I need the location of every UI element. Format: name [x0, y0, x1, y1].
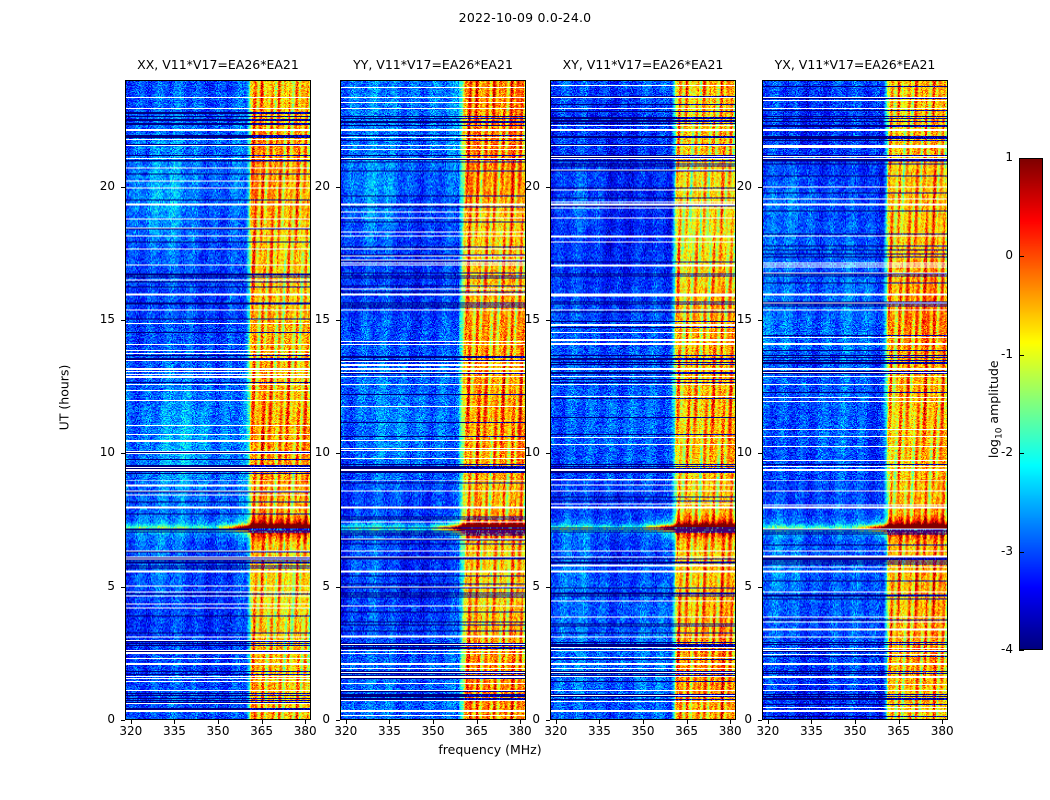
y-tick-mark — [546, 587, 550, 588]
y-tick-label: 10 — [300, 445, 330, 459]
y-tick-mark — [546, 187, 550, 188]
y-tick-label: 10 — [85, 445, 115, 459]
colorbar-tick-label: -4 — [979, 642, 1013, 656]
y-tick-mark — [336, 720, 340, 721]
y-tick-mark — [336, 587, 340, 588]
colorbar-tick-label: 1 — [979, 150, 1013, 164]
spectrogram-panel-xx[interactable] — [125, 80, 311, 720]
panel-title-yx: YX, V11*V17=EA26*EA21 — [722, 57, 988, 72]
x-tick-label: 380 — [710, 724, 750, 738]
y-tick-mark — [546, 320, 550, 321]
colorbar-label-base: 10 — [994, 428, 1004, 439]
y-tick-label: 5 — [510, 579, 540, 593]
figure-suptitle: 2022-10-09 0.0-24.0 — [0, 10, 1050, 25]
colorbar-tick-mark — [1019, 256, 1024, 257]
y-tick-label: 5 — [300, 579, 330, 593]
y-tick-mark — [336, 187, 340, 188]
y-tick-mark — [121, 720, 125, 721]
y-tick-label: 0 — [722, 712, 752, 726]
y-tick-mark — [121, 587, 125, 588]
colorbar-label-log: log — [986, 439, 1001, 458]
y-tick-mark — [758, 320, 762, 321]
y-tick-mark — [121, 320, 125, 321]
y-tick-label: 0 — [300, 712, 330, 726]
x-tick-label: 365 — [667, 724, 707, 738]
x-tick-label: 380 — [285, 724, 325, 738]
x-tick-label: 365 — [879, 724, 919, 738]
y-tick-mark — [758, 587, 762, 588]
spectrogram-panel-yy[interactable] — [340, 80, 526, 720]
y-tick-label: 15 — [300, 312, 330, 326]
x-tick-label: 350 — [413, 724, 453, 738]
x-tick-label: 350 — [835, 724, 875, 738]
y-tick-mark — [758, 720, 762, 721]
x-tick-label: 350 — [623, 724, 663, 738]
y-tick-mark — [121, 453, 125, 454]
y-tick-mark — [121, 187, 125, 188]
x-tick-label: 335 — [154, 724, 194, 738]
y-tick-mark — [546, 720, 550, 721]
y-tick-label: 15 — [722, 312, 752, 326]
y-tick-label: 5 — [722, 579, 752, 593]
y-axis-label: UT (hours) — [57, 328, 72, 468]
x-tick-label: 350 — [198, 724, 238, 738]
y-tick-label: 20 — [722, 179, 752, 193]
colorbar-tick-label: -3 — [979, 544, 1013, 558]
y-tick-label: 5 — [85, 579, 115, 593]
y-tick-mark — [758, 187, 762, 188]
y-tick-mark — [336, 453, 340, 454]
y-tick-label: 20 — [510, 179, 540, 193]
y-tick-label: 15 — [85, 312, 115, 326]
x-tick-label: 320 — [111, 724, 151, 738]
colorbar-tick-mark — [1019, 158, 1024, 159]
y-tick-label: 15 — [510, 312, 540, 326]
colorbar-label-tail: amplitude — [986, 360, 1001, 427]
colorbar-tick-mark — [1019, 650, 1024, 651]
colorbar[interactable] — [1019, 158, 1043, 650]
x-tick-label: 335 — [579, 724, 619, 738]
colorbar-tick-mark — [1019, 552, 1024, 553]
x-tick-label: 380 — [922, 724, 962, 738]
spectrogram-panel-yx[interactable] — [762, 80, 948, 720]
x-tick-label: 320 — [326, 724, 366, 738]
colorbar-tick-label: 0 — [979, 248, 1013, 262]
colorbar-tick-mark — [1019, 453, 1024, 454]
colorbar-label: log10 amplitude — [986, 319, 1005, 499]
x-axis-label: frequency (MHz) — [330, 742, 650, 757]
x-tick-label: 320 — [536, 724, 576, 738]
spectrogram-panel-xy[interactable] — [550, 80, 736, 720]
y-tick-label: 0 — [85, 712, 115, 726]
x-tick-label: 380 — [500, 724, 540, 738]
y-tick-label: 20 — [300, 179, 330, 193]
y-tick-mark — [336, 320, 340, 321]
x-tick-label: 320 — [748, 724, 788, 738]
y-tick-mark — [546, 453, 550, 454]
figure-canvas: 2022-10-09 0.0-24.0 XX, V11*V17=EA26*EA2… — [0, 0, 1050, 800]
x-tick-label: 335 — [791, 724, 831, 738]
colorbar-tick-mark — [1019, 355, 1024, 356]
x-tick-label: 335 — [369, 724, 409, 738]
y-tick-label: 10 — [510, 445, 540, 459]
y-tick-label: 0 — [510, 712, 540, 726]
y-tick-label: 20 — [85, 179, 115, 193]
y-tick-label: 10 — [722, 445, 752, 459]
x-tick-label: 365 — [242, 724, 282, 738]
y-tick-mark — [758, 453, 762, 454]
x-tick-label: 365 — [457, 724, 497, 738]
